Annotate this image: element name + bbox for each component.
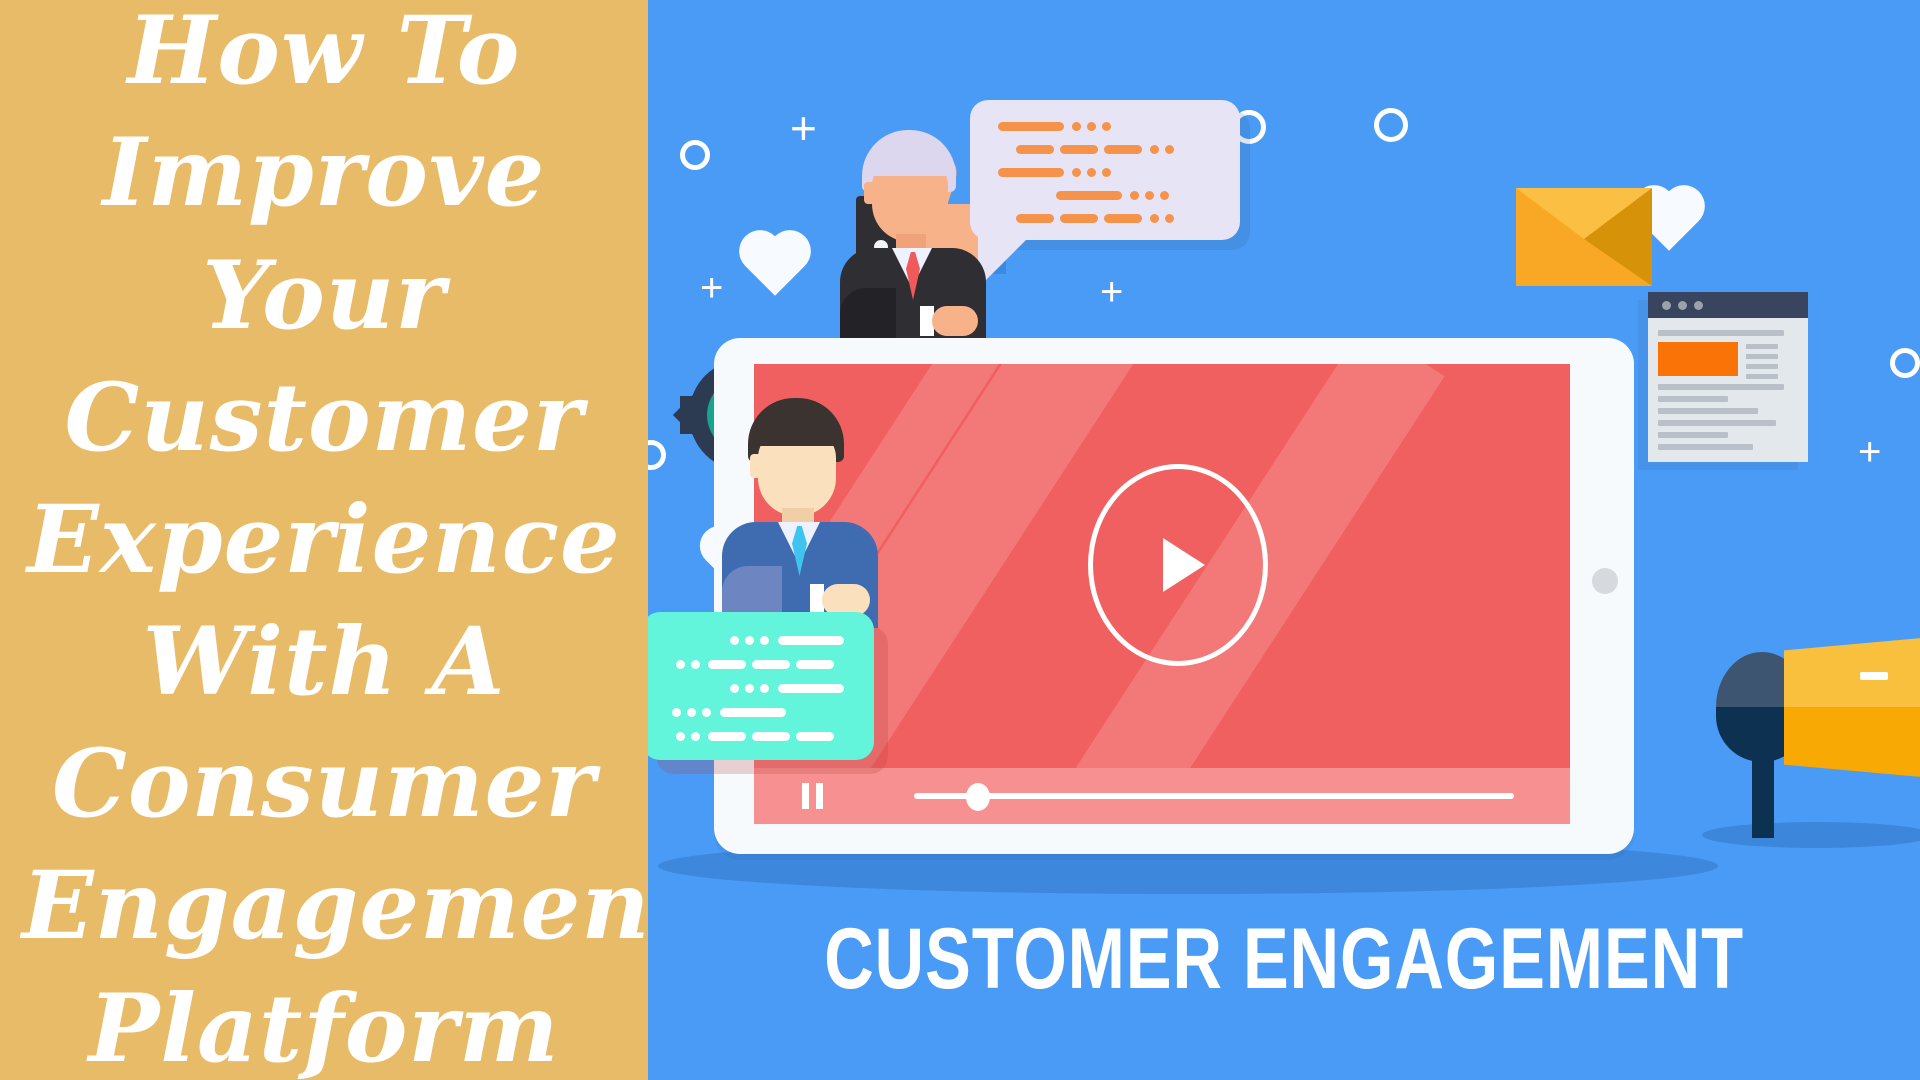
- person-senior: [848, 130, 998, 310]
- plus-decoration-2: [700, 268, 723, 308]
- browser-title-bar: [1648, 292, 1808, 318]
- footer-title: CUSTOMER ENGAGEMENT: [775, 910, 1793, 1009]
- plus-decoration-6: [1858, 432, 1881, 472]
- browser-window: [1648, 292, 1808, 462]
- player-control-bar: [754, 768, 1570, 824]
- ring-decoration-4: [1374, 108, 1408, 142]
- pause-icon[interactable]: [802, 783, 809, 809]
- home-button[interactable]: [1592, 568, 1618, 594]
- banner: How To Improve Your Customer Experience …: [0, 0, 1920, 1080]
- person-agent: [730, 398, 900, 628]
- plus-decoration-3: [1100, 272, 1123, 312]
- ring-decoration-1: [680, 140, 710, 170]
- megaphone-shadow: [1702, 822, 1920, 848]
- ear: [750, 454, 762, 478]
- plus-decoration-1: [790, 105, 817, 151]
- left-panel: How To Improve Your Customer Experience …: [0, 0, 648, 1080]
- progress-knob[interactable]: [966, 783, 990, 811]
- window-dot-1: [1662, 301, 1671, 310]
- page-title: How To Improve Your Customer Experience …: [14, 0, 634, 1080]
- right-panel-illustration: CUSTOMER ENGAGEMENT: [648, 0, 1920, 1080]
- megaphone-icon: [1694, 600, 1920, 850]
- ring-decoration-2: [648, 440, 666, 470]
- speech-bubble-top: [970, 100, 1240, 240]
- progress-track[interactable]: [914, 793, 1514, 799]
- window-dot-3: [1694, 301, 1703, 310]
- browser-hero-image: [1658, 342, 1738, 376]
- ear: [864, 182, 876, 204]
- heart-decoration-1: [745, 236, 804, 295]
- pause-icon-bar2: [816, 783, 823, 809]
- envelope-icon: [1516, 188, 1652, 286]
- speech-bubble-teal: [648, 612, 874, 760]
- ring-decoration-5: [1890, 348, 1920, 378]
- play-triangle-icon: [1163, 538, 1205, 592]
- window-dot-2: [1678, 301, 1687, 310]
